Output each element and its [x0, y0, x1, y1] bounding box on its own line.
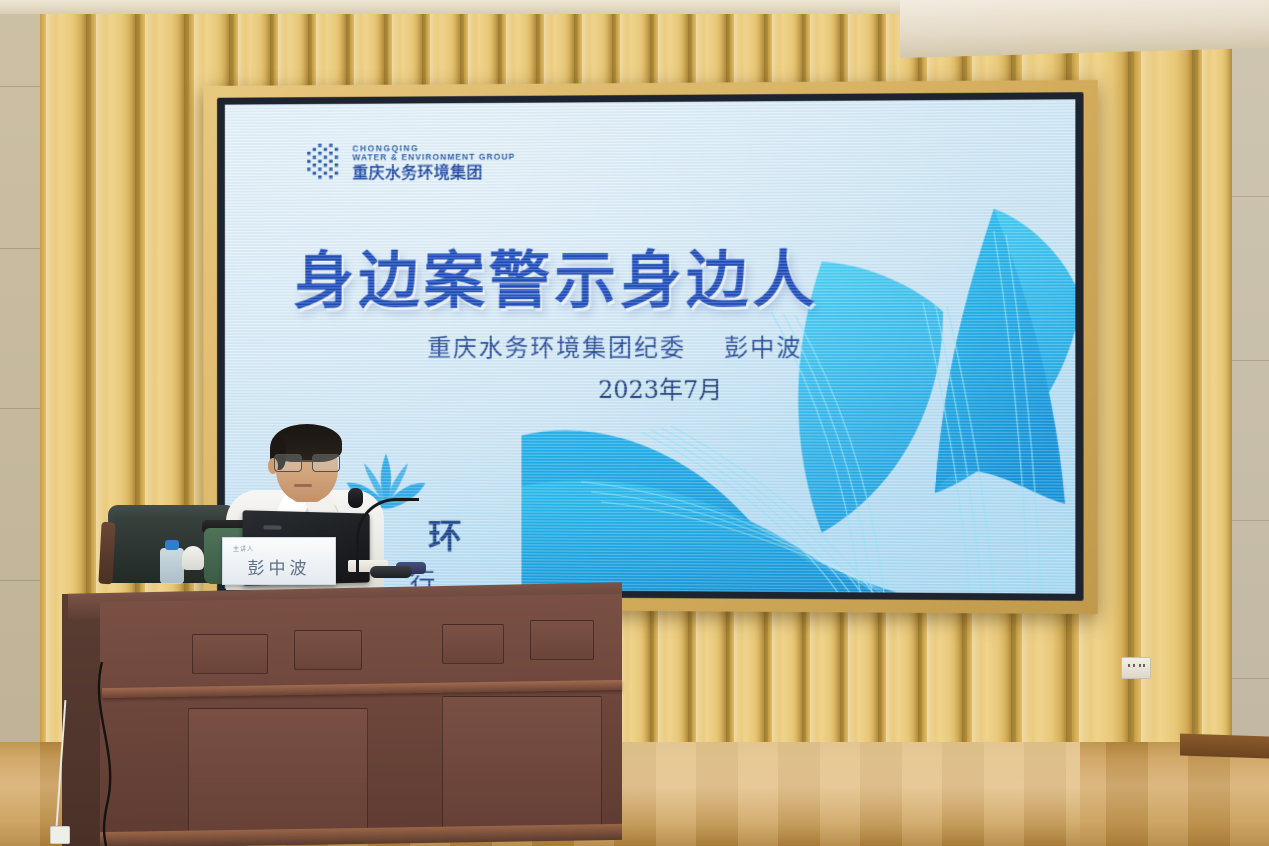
floor-baseboard — [1180, 733, 1269, 758]
presentation-room-scene: CHONGQING WATER & ENVIRONMENT GROUP 重庆水务… — [0, 0, 1269, 846]
logo-line-cn: 重庆水务环境集团 — [352, 164, 515, 183]
microphone-head — [348, 488, 363, 508]
subtitle-org: 重庆水务环境集团纪委 — [427, 334, 686, 362]
stone-panel-right — [1228, 0, 1269, 790]
logo-line-en-2: WATER & ENVIRONMENT GROUP — [352, 153, 515, 163]
slide-subtitle: 重庆水务环境集团纪委彭中波 — [427, 328, 802, 363]
slide-title: 身边案警示身边人 — [293, 229, 891, 320]
wooden-podium — [62, 566, 622, 846]
eyeglasses-icon — [274, 454, 340, 472]
subtitle-person: 彭中波 — [724, 334, 802, 362]
dot-matrix-logo-icon — [305, 142, 342, 186]
power-outlet-icon — [1121, 657, 1151, 679]
power-adapter — [50, 826, 70, 844]
bottle-cap — [165, 540, 179, 550]
slide-date: 2023年7月 — [598, 370, 722, 405]
company-logo: CHONGQING WATER & ENVIRONMENT GROUP 重庆水务… — [305, 141, 515, 186]
name-plate-label: 主讲人 — [233, 544, 254, 553]
black-cable — [88, 660, 128, 846]
